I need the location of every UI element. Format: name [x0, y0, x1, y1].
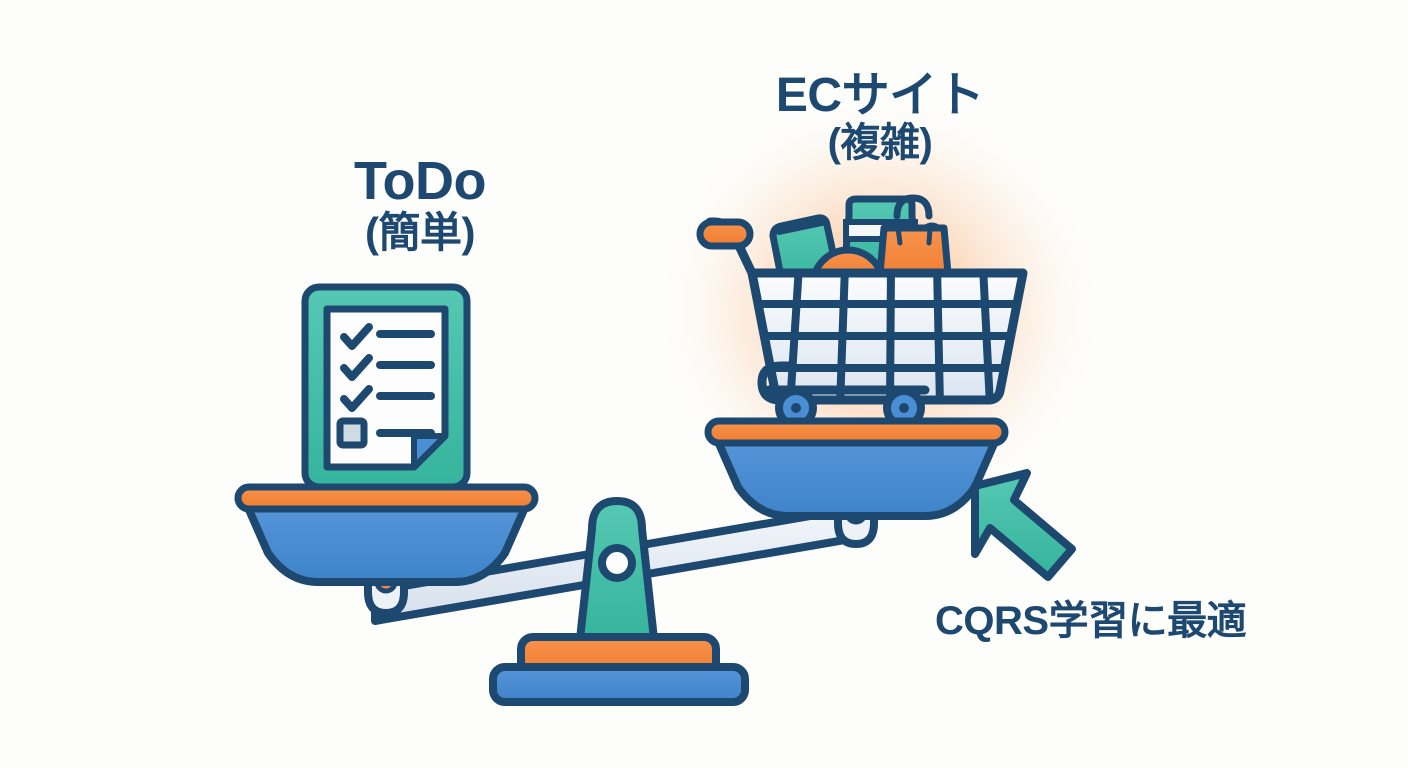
callout-arrow-icon — [975, 473, 1072, 577]
left-label: ToDo (簡単) — [240, 152, 600, 256]
cart-handle-grip — [700, 222, 750, 246]
fulcrum-pivot-hole — [602, 548, 632, 578]
checklist-clipboard — [305, 287, 467, 487]
right-pan-bowl — [716, 437, 997, 516]
left-pan-bowl — [246, 503, 527, 582]
right-label: ECサイト (複雑) — [680, 70, 1080, 165]
checkbox-icon — [340, 421, 364, 445]
right-pan-rim — [708, 421, 1005, 443]
right-label-main: ECサイト — [680, 70, 1080, 122]
bag-crease — [898, 228, 900, 243]
right-label-sub: (複雑) — [680, 122, 1080, 165]
cart-wheel-hub — [899, 403, 909, 413]
illustration-canvas: ToDo (簡単) ECサイト (複雑) CQRS学習に最適 — [0, 0, 1408, 768]
fulcrum-base — [493, 667, 745, 702]
left-pan-rim — [238, 487, 535, 509]
cart-wheel-hub — [791, 403, 801, 413]
left-label-sub: (簡単) — [240, 210, 600, 255]
callout-label: CQRS学習に最適 — [935, 600, 1375, 643]
bag-crease — [929, 228, 930, 243]
left-label-main: ToDo — [240, 152, 600, 210]
